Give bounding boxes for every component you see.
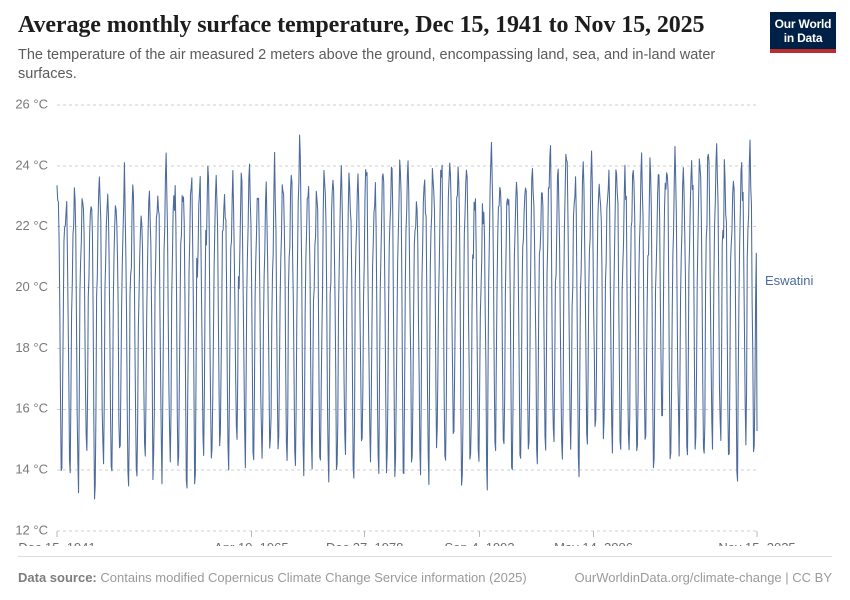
data-source-text: Contains modified Copernicus Climate Cha… xyxy=(97,570,527,585)
y-axis-tick-label: 18 °C xyxy=(15,340,48,355)
chart-footer: Data source: Contains modified Copernicu… xyxy=(18,566,832,588)
plot-area[interactable]: 12 °C14 °C16 °C18 °C20 °C22 °C24 °C26 °C… xyxy=(0,96,850,546)
series-inline-legend[interactable]: Eswatini xyxy=(765,273,814,288)
logo-line-one: Our World xyxy=(774,17,832,31)
series-legend-label[interactable]: Eswatini xyxy=(765,273,814,288)
footer-divider xyxy=(18,556,832,557)
page-title: Average monthly surface temperature, Dec… xyxy=(18,12,758,40)
logo-line-two: in Data xyxy=(774,31,832,45)
owid-chart-figure: Average monthly surface temperature, Dec… xyxy=(0,0,850,600)
license-link[interactable]: OurWorldinData.org/climate-change | CC B… xyxy=(575,570,832,585)
y-axis-tick-label: 20 °C xyxy=(15,279,48,294)
series-line-eswatini xyxy=(57,135,757,499)
x-axis-tick-label: Apr 19, 1965 xyxy=(214,540,288,546)
y-axis-tick-label: 22 °C xyxy=(15,218,48,233)
x-axis-tick-label: Nov 15, 2025 xyxy=(718,540,795,546)
series-lines-group xyxy=(57,135,757,499)
our-world-in-data-logo[interactable]: Our World in Data xyxy=(770,12,836,53)
y-axis-tick-label: 24 °C xyxy=(15,157,48,172)
y-axis-tick-label: 12 °C xyxy=(15,522,48,537)
chart-subtitle: The temperature of the air measured 2 me… xyxy=(18,46,743,85)
data-source-label: Data source: xyxy=(18,570,97,585)
y-axis-tick-label: 16 °C xyxy=(15,401,48,416)
x-axis-tick-label: May 14, 2006 xyxy=(554,540,633,546)
y-axis-tick-label: 26 °C xyxy=(15,96,48,111)
x-axis-tick-label: Dec 15, 1941 xyxy=(18,540,95,546)
x-axis-tick-label: Sep 4, 1992 xyxy=(445,540,515,546)
x-axis-tick-label: Dec 27, 1978 xyxy=(326,540,403,546)
y-axis-tick-label: 14 °C xyxy=(15,462,48,477)
y-axis-tick-labels: 12 °C14 °C16 °C18 °C20 °C22 °C24 °C26 °C xyxy=(15,96,48,537)
data-source-note: Data source: Contains modified Copernicu… xyxy=(18,570,527,585)
x-axis-tick-labels: Dec 15, 1941Apr 19, 1965Dec 27, 1978Sep … xyxy=(18,531,795,546)
chart-header: Average monthly surface temperature, Dec… xyxy=(18,12,832,85)
line-chart-svg[interactable]: 12 °C14 °C16 °C18 °C20 °C22 °C24 °C26 °C… xyxy=(0,96,850,546)
